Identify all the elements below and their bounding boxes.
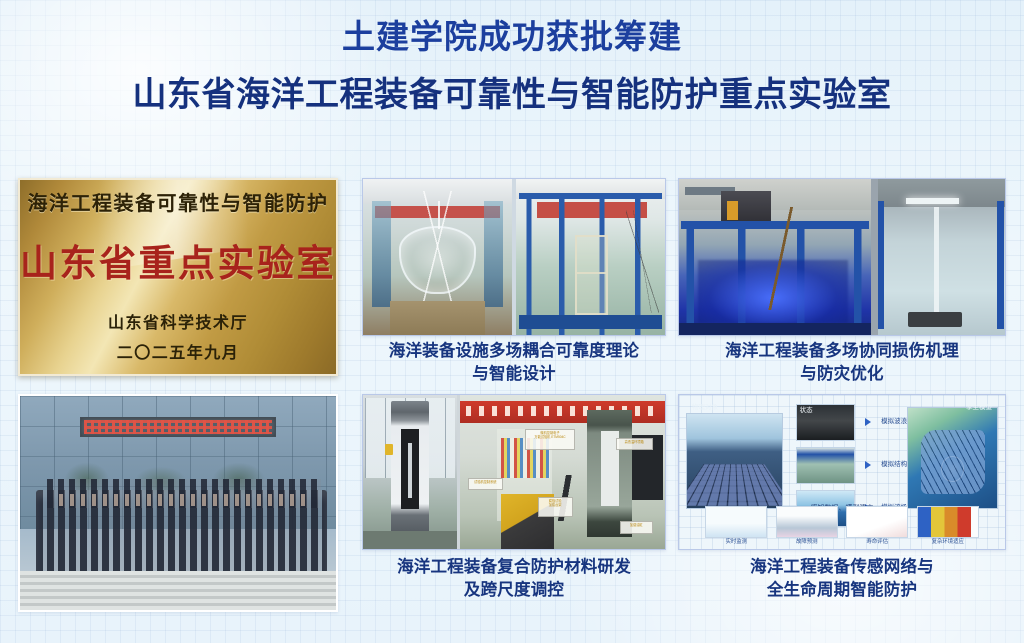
flume-frame-view <box>516 179 665 335</box>
slide-header: 土建学院成功获批筹建 山东省海洋工程装备可靠性与智能防护重点实验室 <box>0 16 1024 118</box>
mini-chart: 实时监测 <box>705 506 767 546</box>
mini-chart: 复杂环境适应 <box>917 506 979 546</box>
environment-chamber-machine <box>587 410 632 536</box>
ceiling-lamp <box>906 198 959 204</box>
equipment-label: 微机控制电子 万能试验机 ETM504C <box>525 429 574 451</box>
life-assessment-chart <box>846 506 908 538</box>
caption-research-direction-3: 海洋工程装备复合防护材料研发 及跨尺度调控 <box>356 556 672 602</box>
people-crowd <box>36 490 327 576</box>
plaque-subtitle: 海洋工程装备可靠性与智能防护 <box>28 187 329 216</box>
equipment-label: 高低温环境箱 <box>616 438 653 450</box>
mini-chart-label: 实时监测 <box>705 538 767 546</box>
slide-root: 土建学院成功获批筹建 山东省海洋工程装备可靠性与智能防护重点实验室 海洋工程装备… <box>0 0 1024 643</box>
twin-model-image <box>907 407 998 509</box>
red-banner <box>460 401 665 423</box>
blue-pillar-right <box>997 201 1003 329</box>
tank-floor <box>390 301 486 335</box>
arrow-right-icon <box>865 418 871 426</box>
caption-research-direction-1: 海洋装备设施多场耦合可靠度理论 与智能设计 <box>356 340 672 386</box>
blue-pillar-left <box>878 201 884 329</box>
mini-chart: 故障预测 <box>776 506 838 546</box>
spiral-marker-icon <box>941 456 964 482</box>
page-title-line2: 山东省海洋工程装备可靠性与智能防护重点实验室 <box>0 72 1024 118</box>
flume-tank-view <box>363 179 512 335</box>
equipment-label: 试验机控制系统 <box>468 478 503 490</box>
control-knob <box>385 444 392 455</box>
caption-research-direction-2: 海洋工程装备多场协同损伤机理 与防灾优化 <box>672 340 1012 386</box>
clear-tank-view <box>878 179 1005 335</box>
caption-line1: 海洋装备设施多场耦合可靠度理论 <box>389 342 640 360</box>
illuminated-tank-view <box>679 179 871 335</box>
entrance-steps <box>20 571 336 610</box>
wave-flume-photo <box>362 178 666 336</box>
caption-line1: 海洋工程装备复合防护材料研发 <box>397 558 631 576</box>
plaque-issuer: 山东省科学技术厅 <box>108 309 248 333</box>
digital-twin-diagram: 物理对象 状态 模拟波浪 模拟结构 模拟流场 孪生模型 感知数据、模型建立 实时… <box>678 394 1006 550</box>
caption-line2: 与防灾优化 <box>672 363 1012 386</box>
universal-testing-machine <box>391 401 428 540</box>
simulate-wave-label: 模拟波浪 <box>881 415 907 425</box>
blue-water-tank-photo <box>678 178 1006 336</box>
simulate-structure-label: 模拟结构 <box>881 458 907 468</box>
sea-state-label: 状态 <box>800 404 813 414</box>
physical-object-label: 物理对象 <box>692 401 718 411</box>
caption-line1: 海洋工程装备传感网络与 <box>750 558 934 576</box>
page-title-line1: 土建学院成功获批筹建 <box>0 16 1024 58</box>
caption-line2: 与智能设计 <box>356 363 672 386</box>
material-testing-photo: 微机控制电子 万能试验机 ETM504C 试验机控制系统 高低温环境箱 腐蚀试验… <box>362 394 666 550</box>
led-banner <box>80 417 276 436</box>
tank-base <box>679 323 871 335</box>
mini-chart-label: 复杂环境适应 <box>917 538 979 546</box>
test-tower <box>575 235 608 315</box>
ceiling <box>679 179 871 210</box>
arrow-right-icon <box>865 461 871 469</box>
hydraulic-hose <box>764 207 799 310</box>
testing-lab-overview: 微机控制电子 万能试验机 ETM504C 试验机控制系统 高低温环境箱 腐蚀试验… <box>460 395 665 549</box>
laboratory-plaque: 海洋工程装备可靠性与智能防护 山东省重点实验室 山东省科学技术厅 二〇二五年九月 <box>18 178 338 376</box>
analysis-mini-charts: 实时监测 故障预测 寿命评估 复杂环境适应 <box>705 506 979 546</box>
measurement-cables <box>626 210 659 313</box>
center-post <box>934 207 939 319</box>
realtime-monitor-chart <box>705 506 767 538</box>
universal-testing-machine-view <box>363 395 457 549</box>
mini-chart-label: 寿命评估 <box>846 538 908 546</box>
specimen-basin <box>908 312 961 328</box>
mini-chart: 寿命评估 <box>846 506 908 546</box>
physical-object-image <box>686 413 784 508</box>
structure-thumbnail <box>796 447 855 484</box>
environment-adaptation-chart <box>917 506 979 538</box>
twin-model-label: 孪生模型 <box>966 401 992 411</box>
equipment-label: 腐蚀试验 加载台架 <box>538 497 573 517</box>
caption-research-direction-4: 海洋工程装备传感网络与 全生命周期智能防护 <box>672 556 1012 602</box>
lab-floor <box>363 531 457 549</box>
plaque-date: 二〇二五年九月 <box>117 339 240 363</box>
caption-line2: 全生命周期智能防护 <box>672 579 1012 602</box>
bottom-rail <box>519 315 662 329</box>
top-rail <box>519 193 662 199</box>
caption-line2: 及跨尺度调控 <box>356 579 672 602</box>
fault-prediction-chart <box>776 506 838 538</box>
plaque-main-title: 山东省重点实验室 <box>20 233 336 287</box>
caption-line1: 海洋工程装备多场协同损伤机理 <box>725 342 959 360</box>
group-photo <box>18 394 338 612</box>
equipment-label: 加载油缸 <box>620 521 653 533</box>
mini-chart-label: 故障预测 <box>776 538 838 546</box>
